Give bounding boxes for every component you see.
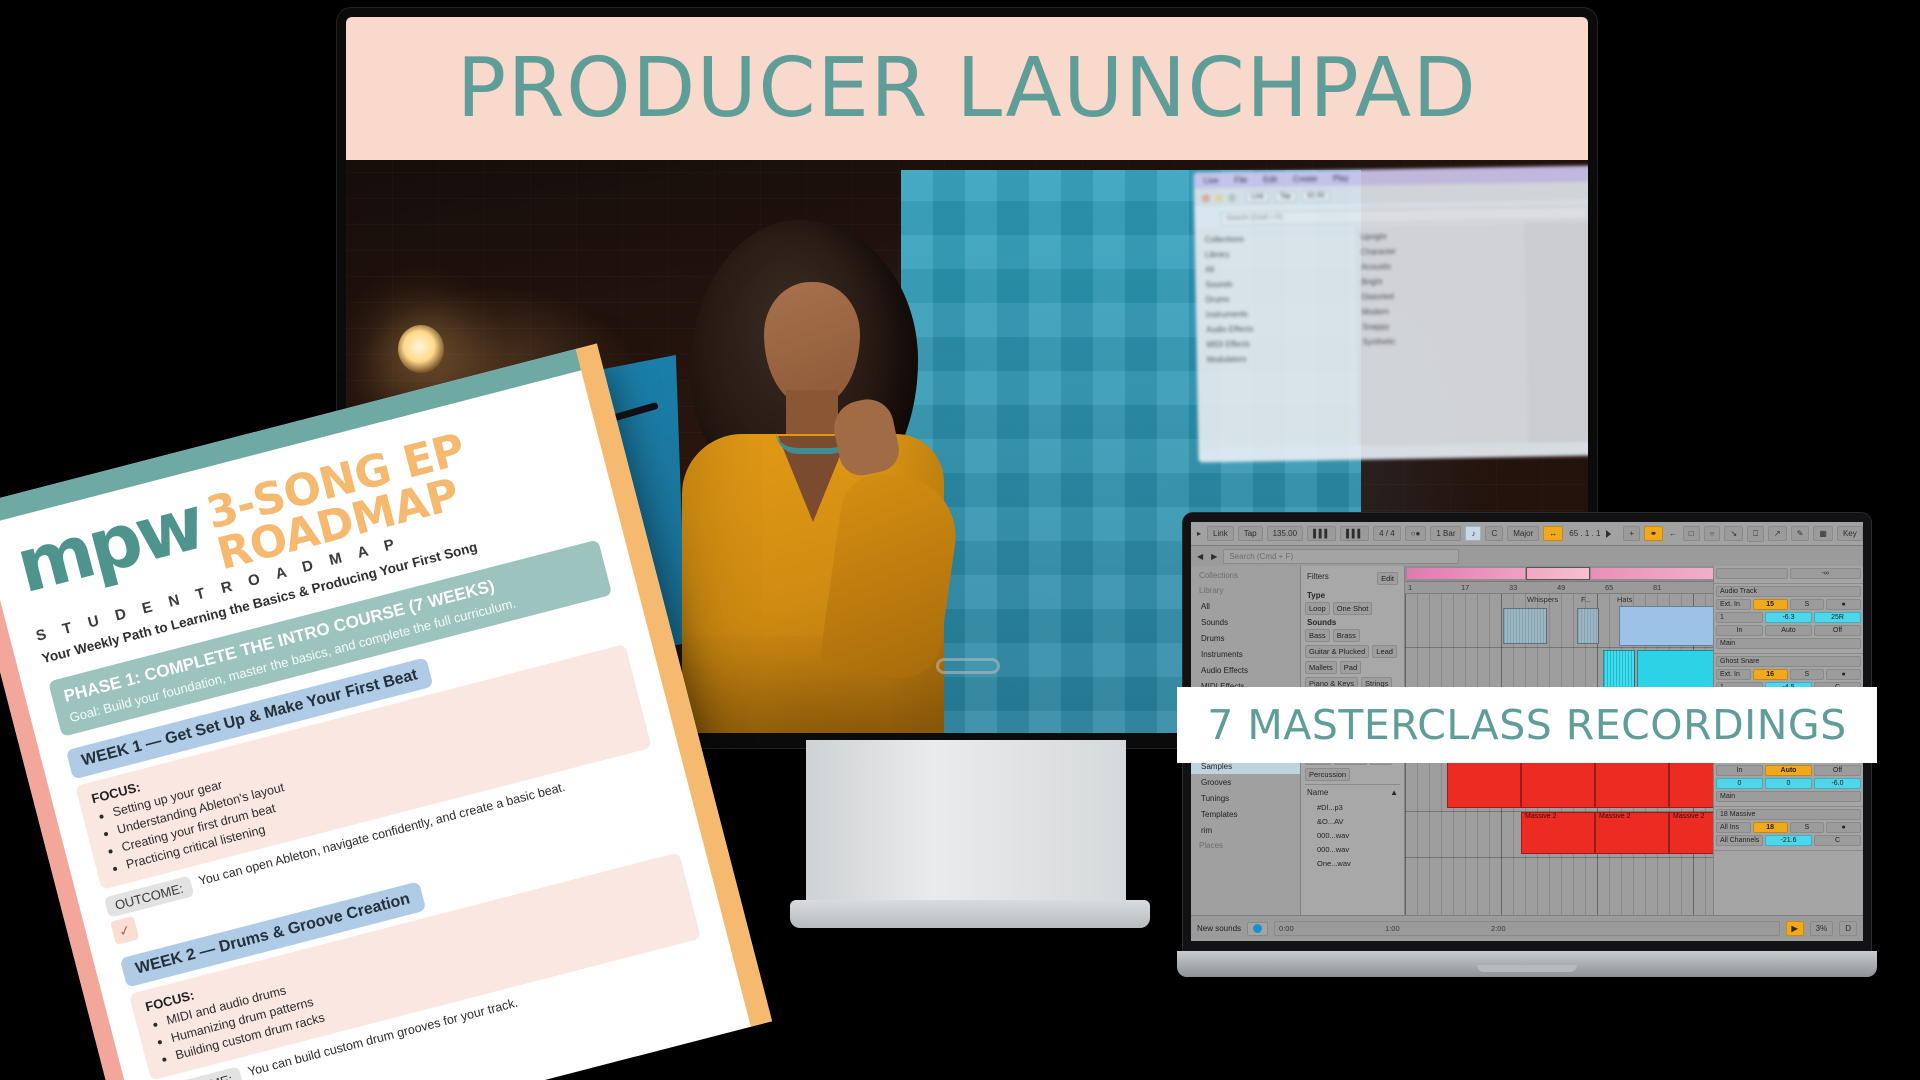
eyeglasses-prop <box>936 658 1000 674</box>
file-row-0[interactable]: #Dl...p3 <box>1305 800 1400 814</box>
browser-search-input[interactable]: Search (Cmd + F) <box>1223 549 1459 564</box>
output-field-1[interactable]: Main <box>1716 638 1861 649</box>
pan-field-1[interactable]: 25R <box>1814 612 1861 623</box>
mixer-strip-audio-track[interactable]: Audio Track Ext. In 15 S ● 1 <box>1714 584 1863 654</box>
filter-chip-one-shot[interactable]: One Shot <box>1333 602 1373 615</box>
overview-segment-0 <box>1407 568 1525 579</box>
monitor-stand-foot <box>790 900 1150 928</box>
browser-item-grooves[interactable]: Grooves <box>1191 774 1300 790</box>
channel-field-4[interactable]: All Channels <box>1716 835 1763 846</box>
ruler-mark-49: 49 <box>1557 583 1565 592</box>
mixer-row-title-4: 18 Massive <box>1716 809 1861 820</box>
singer-figure <box>646 220 976 745</box>
file-row-3[interactable]: 000...wav <box>1305 842 1400 856</box>
background-arrangement-column <box>1524 222 1588 443</box>
key-map-button[interactable]: Key <box>1837 526 1863 541</box>
library-header: Library <box>1191 583 1300 598</box>
loop-selection-icon[interactable]: □ <box>1683 526 1700 541</box>
background-tap-button: Tap <box>1275 190 1296 201</box>
solo-button-1[interactable]: S <box>1790 599 1825 610</box>
arm-button-4[interactable]: ● <box>1826 822 1861 833</box>
monitor-off-1[interactable]: Off <box>1814 625 1861 636</box>
send-b-3[interactable]: 0 <box>1765 778 1812 789</box>
browser-item-drums[interactable]: Drums <box>1191 630 1300 646</box>
link-button[interactable]: Link <box>1207 526 1234 541</box>
monitor-stand-neck <box>806 740 1126 905</box>
input-field-2[interactable]: Ext. In <box>1716 669 1751 680</box>
clip-audio-1[interactable] <box>1503 608 1547 644</box>
output-field-0[interactable] <box>1716 568 1788 579</box>
filter-chip-lead[interactable]: Lead <box>1372 645 1397 658</box>
minimize-dot-icon <box>1215 194 1223 202</box>
track-number-2[interactable]: 16 <box>1753 669 1788 680</box>
collections-header: Collections <box>1191 568 1300 583</box>
locator-f[interactable]: F... <box>1581 595 1591 604</box>
quantization-field[interactable]: 1 Bar <box>1430 526 1461 541</box>
key-scale-field[interactable]: Major <box>1507 526 1539 541</box>
mixer-row-output-0: -∞ <box>1716 568 1861 579</box>
monitor-auto-3[interactable]: Auto <box>1765 765 1812 776</box>
menu-item-edit: Edit <box>1263 175 1277 184</box>
volume-field-4[interactable]: -21.6 <box>1765 835 1812 846</box>
status-message: New sounds <box>1197 924 1241 933</box>
background-link-button: Link <box>1246 191 1269 202</box>
mixer-row-title-2: Ghost Snare <box>1716 656 1861 667</box>
menu-item-live: Live <box>1204 176 1219 185</box>
track-lane-1[interactable] <box>1405 606 1713 648</box>
filter-chip-loop[interactable]: Loop <box>1305 602 1330 615</box>
monitor-off-3[interactable]: Off <box>1814 765 1861 776</box>
mixer-row-output-1: Main <box>1716 638 1861 649</box>
filter-group-sounds[interactable]: Sounds <box>1307 618 1400 627</box>
play-button-icon[interactable] <box>1606 530 1611 538</box>
nudge-icon[interactable]: ▌▌▌ <box>1340 526 1369 541</box>
browser-item-sounds[interactable]: Sounds <box>1191 614 1300 630</box>
file-row-1[interactable]: &O...AV <box>1305 814 1400 828</box>
macbook-lid-notch <box>1477 965 1577 972</box>
file-row-2[interactable]: 000...wav <box>1305 828 1400 842</box>
places-header: Places <box>1191 838 1300 853</box>
ableton-status-bar: New sounds 0:00 1:00 2:00 ▶ 3% D <box>1191 915 1863 941</box>
background-daw-window: Live File Edit Create Play Link Tap 92.0… <box>1193 166 1588 463</box>
mixer-strip-0[interactable]: -∞ <box>1714 566 1863 584</box>
back-arrow-icon[interactable]: ◀ <box>1195 550 1205 563</box>
stage-light-bulb <box>398 325 444 373</box>
track-number-4[interactable]: 18 <box>1753 822 1788 833</box>
background-daw-body: Collections Library All Sounds Drums Ins… <box>1194 222 1588 449</box>
ruler-mark-81: 81 <box>1653 583 1661 592</box>
filters-title: Filters <box>1307 572 1329 585</box>
pan-field-4[interactable]: C <box>1814 835 1861 846</box>
masterclass-banner-wrap: 7 MASTERCLASS RECORDINGS <box>1177 687 1877 763</box>
cpu-meter: 3% <box>1810 921 1834 936</box>
monitor-auto-1[interactable]: Auto <box>1765 625 1812 636</box>
overview-segment-2 <box>1591 568 1713 579</box>
ruler-mark-17: 17 <box>1461 583 1469 592</box>
browser-toggle-icon[interactable]: ▸ <box>1195 527 1203 540</box>
filters-header-row: Filters Edit <box>1305 572 1400 588</box>
fold-icon[interactable]: ⎕ <box>1747 526 1764 542</box>
file-row-4[interactable]: One...wav <box>1305 856 1400 870</box>
file-list-name-column: Name <box>1307 788 1328 797</box>
browser-item-instruments[interactable]: Instruments <box>1191 646 1300 662</box>
time-signature-field[interactable]: 4 / 4 <box>1373 526 1401 541</box>
menu-item-create: Create <box>1293 174 1317 183</box>
draw-mode-icon[interactable]: ↘ <box>1724 526 1743 541</box>
channel-field-1[interactable]: 1 <box>1716 612 1763 623</box>
week-1-checkbox[interactable]: ✓ <box>110 916 139 945</box>
filter-chip-percussion[interactable]: Percussion <box>1305 768 1350 781</box>
device-power-icon[interactable] <box>1253 924 1262 933</box>
filter-chips-type: Loop One Shot <box>1305 602 1400 615</box>
sort-ascending-icon[interactable]: ▲ <box>1390 788 1398 797</box>
filter-chip-guitar-plucked[interactable]: Guitar & Plucked <box>1305 645 1369 658</box>
forward-arrow-icon[interactable]: ▶ <box>1209 550 1219 563</box>
send-a-3[interactable]: 0 <box>1716 778 1763 789</box>
menu-item-play: Play <box>1333 173 1349 182</box>
mixer-row-input-1: Ext. In 15 S ● <box>1716 599 1861 610</box>
tempo-field[interactable]: 135.00 <box>1267 526 1303 541</box>
ableton-control-bar: ▸ Link Tap 135.00 ▌▌▌ ▌▌▌ 4 / 4 ○● 1 Bar… <box>1191 522 1863 546</box>
mixer-row-input-2: Ext. In 16 S ● <box>1716 669 1861 680</box>
mixer-row-output-3: Main <box>1716 791 1861 802</box>
overview-segment-1 <box>1527 568 1589 579</box>
mixer-row-channel-4: All Channels -21.6 C <box>1716 835 1861 846</box>
filters-edit-button[interactable]: Edit <box>1377 572 1398 585</box>
automation-arm-icon[interactable]: ⚭ <box>1644 526 1663 541</box>
file-list-header[interactable]: Name ▲ <box>1305 784 1400 800</box>
output-field-3[interactable]: Main <box>1716 791 1861 802</box>
solo-indicator-icon[interactable]: ▶ <box>1786 921 1804 936</box>
ruler-mark-1: 1 <box>1408 583 1412 592</box>
menu-item-file: File <box>1234 175 1247 184</box>
clip-massive-7[interactable]: Massive 2 <box>1669 812 1713 854</box>
punch-icon[interactable]: ○ <box>1704 526 1721 541</box>
window-traffic-lights <box>1202 194 1236 203</box>
metronome-icon[interactable]: ▌▌▌ <box>1307 526 1336 541</box>
monitor-in-1[interactable]: In <box>1716 625 1763 636</box>
macbook-base <box>1177 951 1877 977</box>
time-mark-0: 0:00 <box>1279 924 1294 933</box>
filter-chip-pad[interactable]: Pad <box>1340 661 1361 674</box>
background-filter-item-7: Synthetic <box>1362 332 1520 350</box>
ruler-mark-65: 65 <box>1605 583 1613 592</box>
close-dot-icon <box>1202 194 1210 202</box>
filter-chip-brass[interactable]: Brass <box>1333 629 1360 642</box>
arrangement-overview[interactable] <box>1405 566 1713 582</box>
key-root-field[interactable]: C <box>1485 526 1503 541</box>
mixer-row-input-4: All Ins 18 S ● <box>1716 822 1861 833</box>
producer-launchpad-title: PRODUCER LAUNCHPAD <box>457 41 1478 136</box>
filter-chip-mallets[interactable]: Mallets <box>1305 661 1337 674</box>
masterclass-banner: 7 MASTERCLASS RECORDINGS <box>1177 687 1877 763</box>
zoom-dot-icon <box>1228 194 1236 202</box>
browser-item-templates[interactable]: Templates <box>1191 806 1300 822</box>
masterclass-recordings-title: 7 MASTERCLASS RECORDINGS <box>1207 701 1846 749</box>
send-c-3[interactable]: -6.0 <box>1814 778 1861 789</box>
mixer-row-monitor-1: In Auto Off <box>1716 625 1861 636</box>
background-browser-column: Collections Library All Sounds Drums Ins… <box>1194 226 1358 449</box>
timeline-scrubber[interactable]: 0:00 1:00 2:00 <box>1274 921 1779 936</box>
fade-icon[interactable]: ↗ <box>1768 526 1787 541</box>
ruler-mark-33: 33 <box>1509 583 1517 592</box>
mixer-row-sends-3: 0 0 -6.0 <box>1716 778 1861 789</box>
solo-button-4[interactable]: S <box>1790 822 1825 833</box>
back-to-arrangement-icon[interactable]: ← <box>1667 527 1679 540</box>
clip-massive-6[interactable]: Massive 2 <box>1595 812 1669 854</box>
browser-item-rim[interactable]: rim <box>1191 822 1300 838</box>
key-enable-icon[interactable]: ♪ <box>1465 526 1481 541</box>
add-locator-icon[interactable]: + <box>1623 526 1640 541</box>
filter-group-type[interactable]: Type <box>1307 591 1400 600</box>
filter-chip-bass[interactable]: Bass <box>1305 629 1330 642</box>
grid-icon[interactable]: ▦ <box>1813 526 1833 541</box>
locator-whispers[interactable]: Whispers <box>1527 595 1558 604</box>
pencil-icon[interactable]: ✎ <box>1791 526 1810 541</box>
mixer-row-title-1: Audio Track <box>1716 586 1861 597</box>
follow-icon[interactable]: ○● <box>1405 526 1427 541</box>
composite-product-mockup: Live File Edit Create Play Link Tap 92.0… <box>0 0 1920 1080</box>
arrangement-ruler[interactable]: 1 17 33 49 65 81 <box>1405 582 1713 594</box>
time-mark-2: 2:00 <box>1491 924 1506 933</box>
track-number-1[interactable]: 15 <box>1753 599 1788 610</box>
track-name-18-massive[interactable]: 18 Massive <box>1716 809 1861 820</box>
input-field-1[interactable]: Ext. In <box>1716 599 1751 610</box>
time-mark-1: 1:00 <box>1385 924 1400 933</box>
background-filter-column: Upright Character Acoustic Bright Distor… <box>1354 223 1528 446</box>
browser-item-all[interactable]: All <box>1191 598 1300 614</box>
loop-switch-icon[interactable]: ↔ <box>1543 526 1563 541</box>
track-name-ghost-snare[interactable]: Ghost Snare <box>1716 656 1861 667</box>
background-browser-item-6: Modulators <box>1207 350 1357 368</box>
input-field-4[interactable]: All Ins <box>1716 822 1751 833</box>
monitor-title-banner: PRODUCER LAUNCHPAD <box>346 17 1588 160</box>
clip-audio-2[interactable] <box>1577 608 1599 644</box>
browser-item-tunings[interactable]: Tunings <box>1191 790 1300 806</box>
monitor-in-3[interactable]: In <box>1716 765 1763 776</box>
mpw-logo: mpw <box>11 494 206 598</box>
tap-tempo-button[interactable]: Tap <box>1238 526 1263 541</box>
background-tempo-field: 92.00 <box>1302 190 1330 201</box>
volume-field-1[interactable]: -6.3 <box>1765 612 1812 623</box>
mixer-row-monitor-3: In Auto Off <box>1716 765 1861 776</box>
device-chain-strip[interactable] <box>1247 922 1268 936</box>
clip-audio-3[interactable] <box>1619 606 1713 646</box>
mixer-strip-18-massive[interactable]: 18 Massive All Ins 18 S ● All Channels <box>1714 807 1863 851</box>
clip-massive-5[interactable]: Massive 2 <box>1521 812 1595 854</box>
solo-button-2[interactable]: S <box>1790 669 1825 680</box>
track-name-audio-track[interactable]: Audio Track <box>1716 586 1861 597</box>
track-lane-5[interactable]: Massive 2 Massive 2 Massive 2 <box>1405 812 1713 858</box>
arm-button-2[interactable]: ● <box>1826 669 1861 680</box>
arm-button-1[interactable]: ● <box>1826 599 1861 610</box>
disk-overload-icon: D <box>1839 921 1857 936</box>
mixer-row-channel-1: 1 -6.3 25R <box>1716 612 1861 623</box>
arrangement-position: 65 . 1 . 1 <box>1567 527 1602 540</box>
browser-item-audio-effects[interactable]: Audio Effects <box>1191 662 1300 678</box>
browser-search-row: ◀ ▶ Search (Cmd + F) <box>1191 546 1463 566</box>
locator-hats[interactable]: Hats <box>1617 595 1632 604</box>
volume-field-0[interactable]: -∞ <box>1790 568 1862 579</box>
